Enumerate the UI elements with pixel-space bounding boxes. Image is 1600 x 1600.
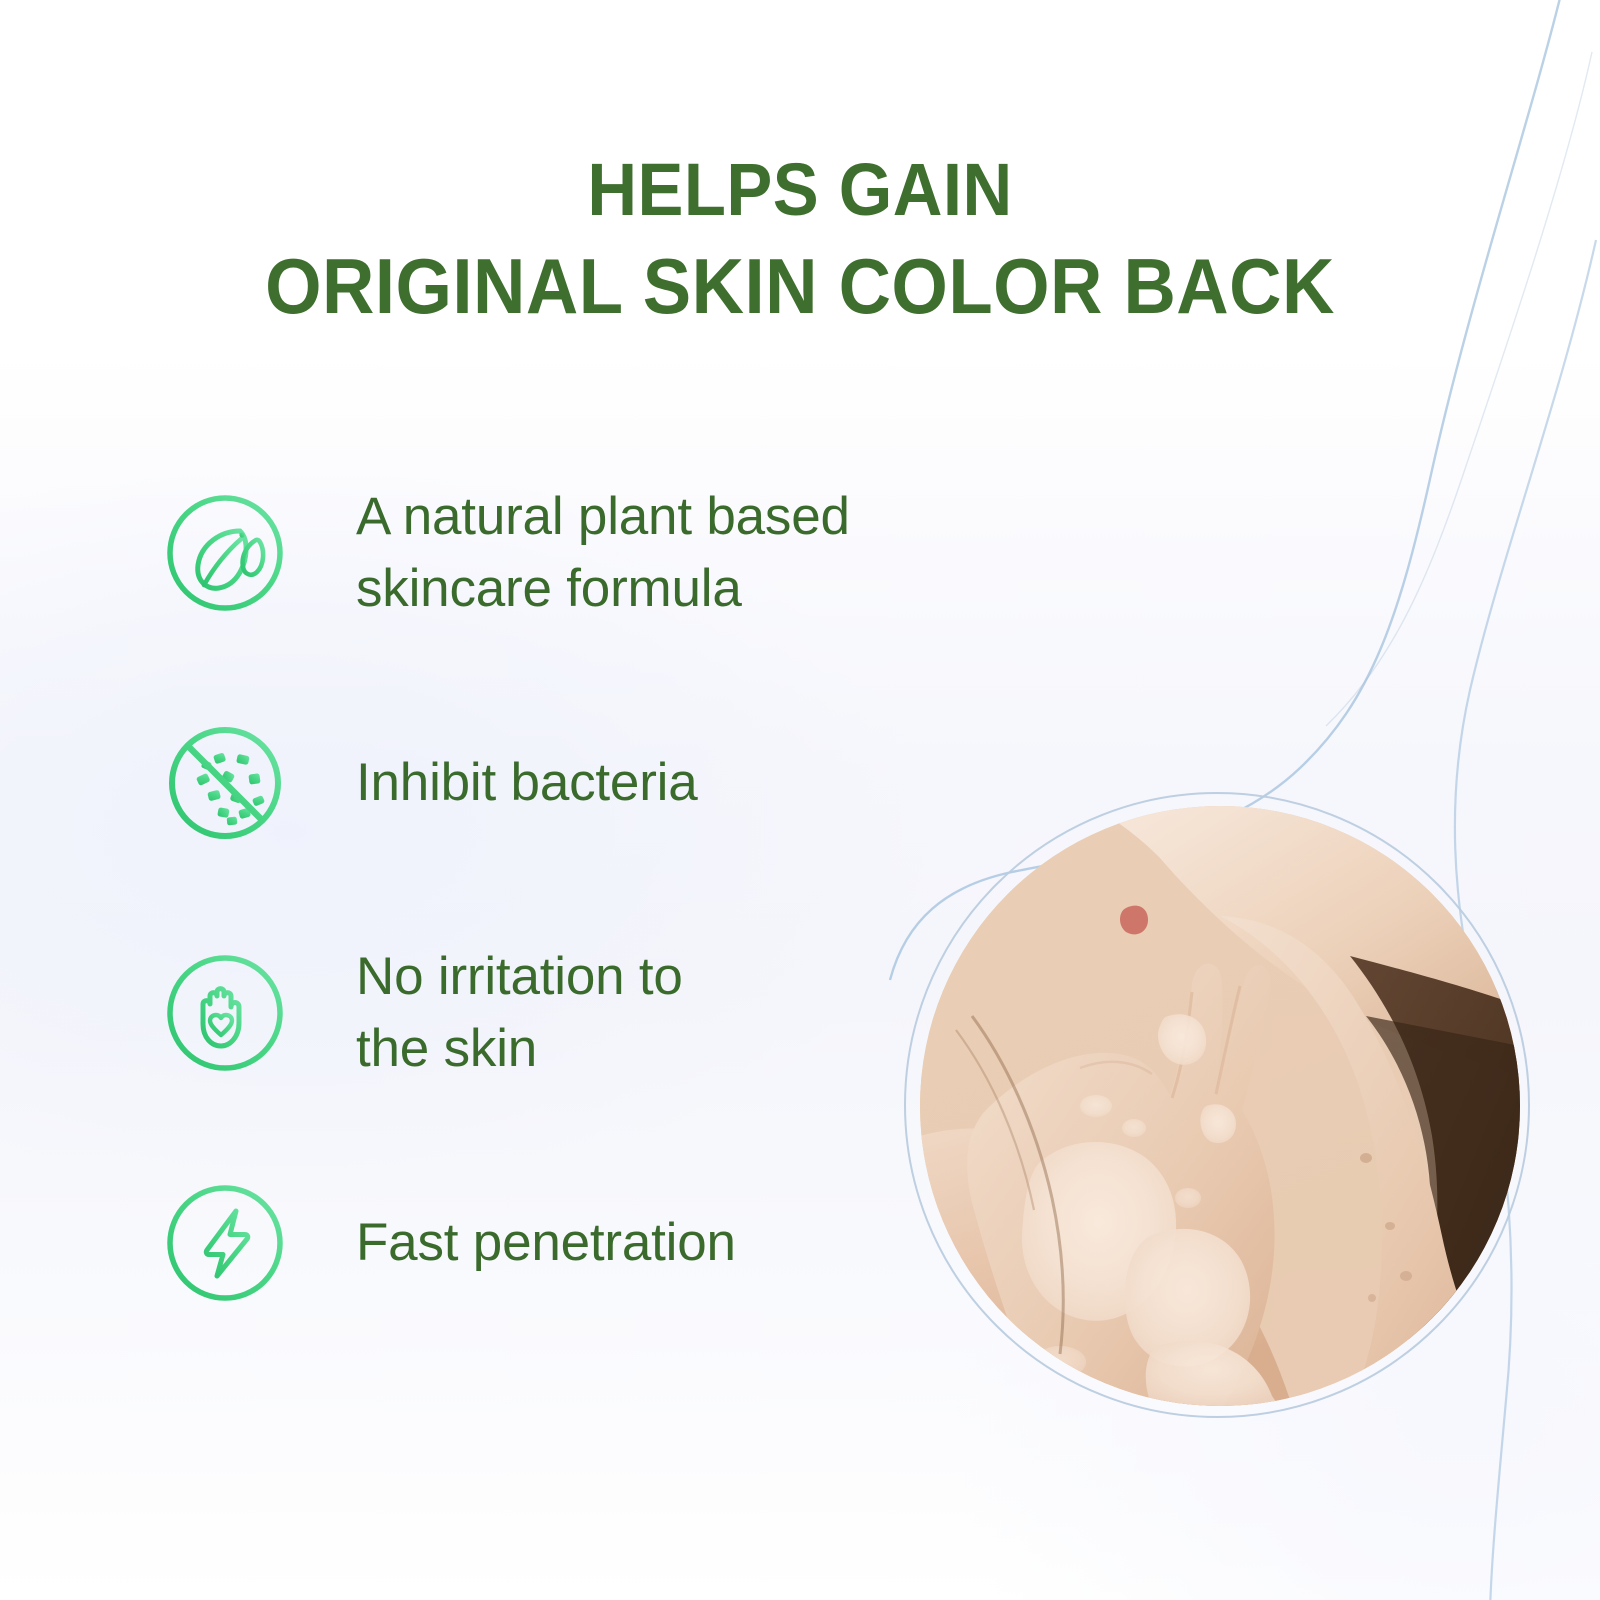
no-bacteria-icon — [160, 718, 290, 848]
feature-text-line-1: Fast penetration — [356, 1213, 736, 1272]
feature-text-line-1: Inhibit bacteria — [356, 753, 698, 812]
headline-line-2: ORIGINAL SKIN COLOR BACK — [56, 238, 1544, 334]
vitiligo-hand-illustration — [920, 806, 1520, 1406]
promo-infographic: HELPS GAIN ORIGINAL SKIN COLOR BACK — [0, 0, 1600, 1600]
leaves-icon — [160, 488, 290, 618]
product-photo — [920, 806, 1520, 1406]
feature-item-inhibit-bacteria: Inhibit bacteria — [160, 708, 960, 858]
lightning-bolt-icon — [160, 1178, 290, 1308]
feature-item-no-irritation: No irritation to the skin — [160, 938, 960, 1088]
feature-item-natural-plant: A natural plant based skincare formula — [160, 478, 960, 628]
photo-circle-mask — [920, 806, 1520, 1406]
feature-label-fast-penetration: Fast penetration — [356, 1207, 736, 1279]
feature-text-line-1: No irritation to — [356, 947, 683, 1006]
feature-text-line-1: A natural plant based — [356, 487, 850, 546]
feature-item-fast-penetration: Fast penetration — [160, 1168, 960, 1318]
hand-heart-icon — [160, 948, 290, 1078]
feature-label-no-irritation: No irritation to the skin — [356, 941, 683, 1085]
feature-list: A natural plant based skincare formula — [160, 478, 960, 1318]
feature-text-line-2: the skin — [356, 1013, 683, 1085]
headline-line-1: HELPS GAIN — [56, 142, 1544, 238]
feature-label-natural-plant: A natural plant based skincare formula — [356, 481, 850, 625]
feature-text-line-2: skincare formula — [356, 553, 850, 625]
page-title: HELPS GAIN ORIGINAL SKIN COLOR BACK — [0, 142, 1600, 334]
feature-label-inhibit-bacteria: Inhibit bacteria — [356, 747, 698, 819]
